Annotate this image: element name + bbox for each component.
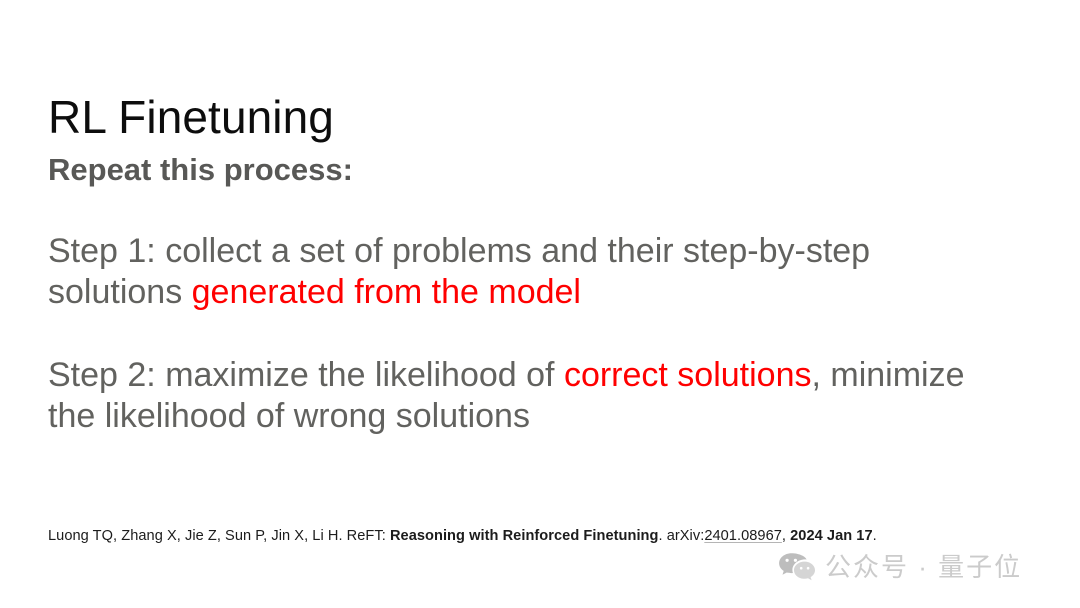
- watermark: 公众号 · 量子位: [778, 552, 1022, 582]
- step-1-paragraph: Step 1: collect a set of problems and th…: [48, 231, 1008, 313]
- slide-body: Repeat this process: Step 1: collect a s…: [48, 152, 1008, 471]
- step-2-paragraph: Step 2: maximize the likelihood of corre…: [48, 355, 1008, 437]
- citation-separator-1: . arXiv:: [658, 528, 704, 544]
- citation-authors: Luong TQ, Zhang X, Jie Z, Sun P, Jin X, …: [48, 528, 390, 544]
- lead-text: Repeat this process:: [48, 152, 1008, 189]
- step-2-highlight: correct solutions: [564, 356, 812, 394]
- page-title: RL Finetuning: [48, 94, 334, 140]
- step-1-highlight: generated from the model: [192, 273, 581, 311]
- slide-canvas: RL Finetuning Repeat this process: Step …: [0, 0, 1080, 608]
- citation-footnote: Luong TQ, Zhang X, Jie Z, Sun P, Jin X, …: [48, 527, 1008, 545]
- citation-paper-title: Reasoning with Reinforced Finetuning: [390, 528, 659, 544]
- citation-date: 2024 Jan 17: [790, 528, 873, 544]
- citation-arxiv-id: 2401.08967: [704, 528, 782, 544]
- citation-terminator: .: [873, 528, 877, 544]
- watermark-text: 公众号 · 量子位: [825, 554, 1022, 580]
- citation-separator-2: ,: [782, 528, 790, 544]
- step-2-prefix: Step 2: maximize the likelihood of: [48, 356, 564, 394]
- wechat-icon: [778, 552, 816, 582]
